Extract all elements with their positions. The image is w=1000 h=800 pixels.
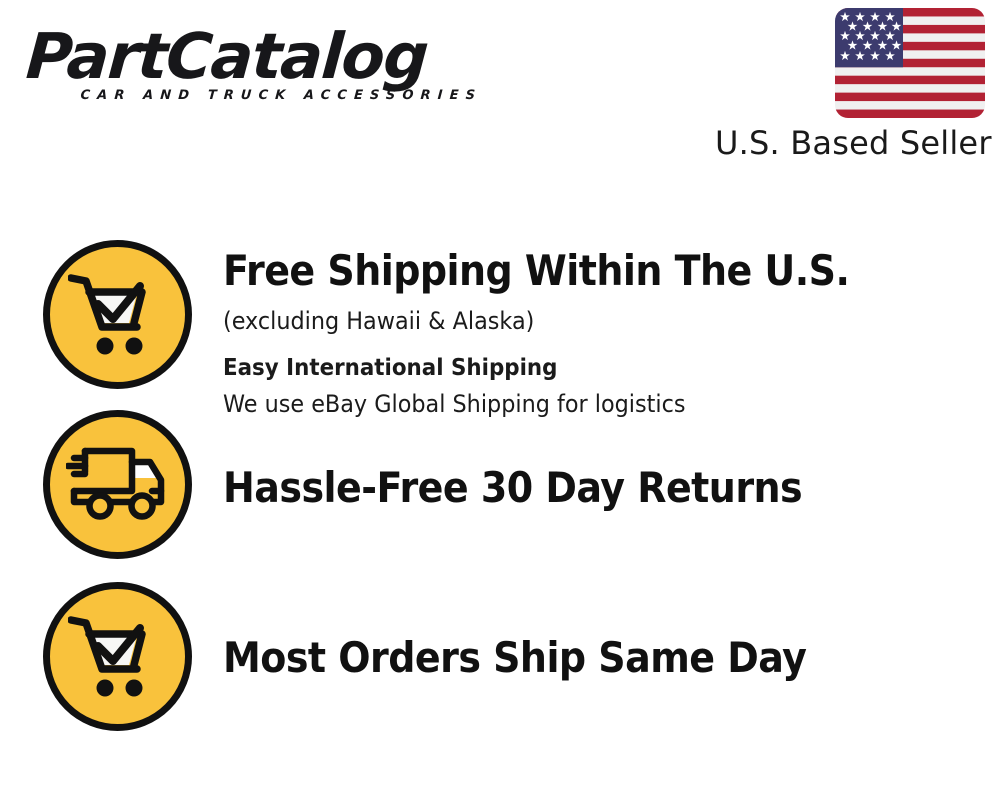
feature-text-returns: Hassle-Free 30 Day Returns bbox=[192, 410, 1000, 513]
brand-tagline: CAR AND TRUCK ACCESSORIES bbox=[80, 88, 495, 103]
us-based-seller-badge: U.S. Based Seller bbox=[715, 8, 985, 164]
feature-subtitle-exclusions: (excluding Hawaii & Alaska) bbox=[223, 304, 946, 338]
shopping-cart-check-icon bbox=[43, 240, 192, 389]
us-flag-icon bbox=[835, 8, 985, 118]
feature-subtitle-international: Easy International Shipping bbox=[223, 351, 946, 385]
shopping-cart-check-icon bbox=[43, 582, 192, 731]
brand-wordmark: PartCatalog bbox=[24, 22, 499, 92]
feature-row-free-shipping: Free Shipping Within The U.S. (excluding… bbox=[0, 240, 1000, 421]
brand-logo[interactable]: PartCatalog CAR AND TRUCK ACCESSORIES bbox=[24, 22, 494, 117]
page-header: PartCatalog CAR AND TRUCK ACCESSORIES bbox=[0, 0, 1000, 175]
feature-row-same-day: Most Orders Ship Same Day bbox=[0, 582, 1000, 731]
feature-text-same-day: Most Orders Ship Same Day bbox=[192, 582, 1000, 683]
feature-row-returns: Hassle-Free 30 Day Returns bbox=[0, 410, 1000, 559]
feature-title: Most Orders Ship Same Day bbox=[223, 633, 926, 683]
delivery-truck-icon bbox=[43, 410, 192, 559]
feature-title: Hassle-Free 30 Day Returns bbox=[223, 463, 926, 513]
feature-title: Free Shipping Within The U.S. bbox=[223, 246, 926, 296]
us-based-seller-label: U.S. Based Seller bbox=[715, 122, 985, 164]
feature-text-free-shipping: Free Shipping Within The U.S. (excluding… bbox=[192, 240, 1000, 421]
